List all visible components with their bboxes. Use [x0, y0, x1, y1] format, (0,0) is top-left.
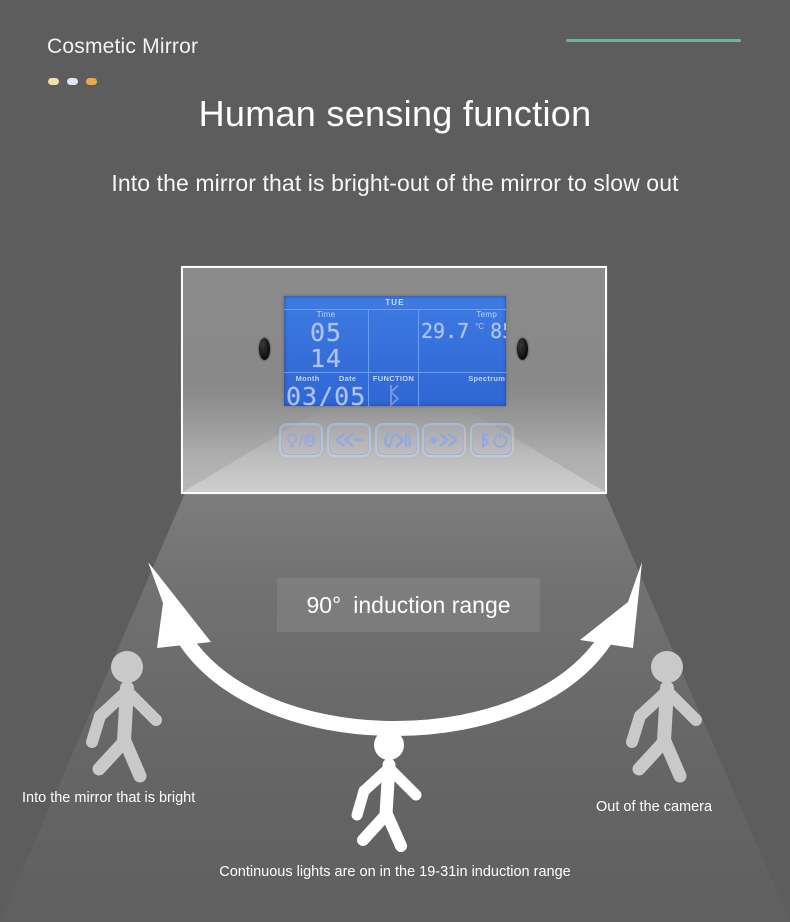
bulb-slash-dimmer-icon [286, 432, 316, 449]
previous-minus-button[interactable] [329, 425, 369, 455]
next-plus-button[interactable] [424, 425, 464, 455]
rewind-minus-icon [334, 433, 364, 447]
lcd-time-value: 05 14 [286, 320, 366, 372]
dot-orange [86, 78, 97, 85]
lcd-spectrum-cell: Spectrum [419, 373, 506, 406]
bluetooth-power-button[interactable] [472, 425, 512, 455]
lcd-spectrum-label: Spectrum [421, 373, 506, 384]
page-subtitle: Into the mirror that is bright-out of th… [0, 170, 790, 197]
lcd-temp-celsius: 29.7 [421, 320, 469, 342]
bluetooth-icon [371, 384, 416, 406]
lcd-month-date-value: 03/05 [286, 384, 366, 406]
person-left [86, 646, 186, 786]
range-text: induction range [353, 592, 510, 619]
left-sensor [259, 338, 270, 360]
lcd-temp-values: 29.7 °C 85.4 °F [421, 320, 506, 342]
plus-forward-icon [429, 433, 459, 447]
lcd-grid: Time 05 14 Temp 29.7 °C 85.4 °F Month Da… [284, 309, 506, 406]
dot-yellow [48, 78, 59, 85]
call-play-pause-button[interactable] [377, 425, 417, 455]
touch-button-row [281, 425, 512, 455]
light-mode-button[interactable] [281, 425, 321, 455]
person-right [626, 646, 726, 786]
phone-play-pause-icon [382, 433, 412, 448]
lcd-function-cell: FUNCTION [369, 373, 419, 406]
caption-bottom: Continuous lights are on in the 19-31in … [0, 864, 790, 880]
lcd-date-cell: Month Date 03/05 [284, 373, 369, 406]
range-degree: 90° [306, 592, 341, 619]
brand-label: Cosmetic Mirror [47, 35, 198, 59]
caption-right: Out of the camera [596, 799, 712, 815]
bluetooth-power-icon [477, 432, 507, 448]
dot-blue [67, 78, 78, 85]
lcd-screen: TUE Time 05 14 Temp 29.7 °C 85.4 °F [284, 296, 506, 406]
dot-group [48, 78, 97, 85]
lcd-weekday: TUE [284, 296, 506, 310]
page-title: Human sensing function [0, 93, 790, 135]
caption-left: Into the mirror that is bright [22, 790, 195, 806]
lcd-time-cell: Time 05 14 [284, 309, 369, 373]
lcd-temp-cell: Temp 29.7 °C 85.4 °F [419, 309, 506, 373]
lcd-blank-cell [369, 309, 419, 373]
lcd-celsius-unit: °C [475, 320, 484, 332]
accent-rule [566, 39, 741, 42]
right-sensor [517, 338, 528, 360]
lcd-temp-fahrenheit: 85.4 [490, 320, 506, 342]
slide-canvas: Cosmetic Mirror Human sensing function I… [0, 0, 790, 922]
induction-range-label: 90° induction range [277, 578, 540, 632]
person-center [351, 726, 443, 854]
lcd-function-label: FUNCTION [371, 373, 416, 384]
